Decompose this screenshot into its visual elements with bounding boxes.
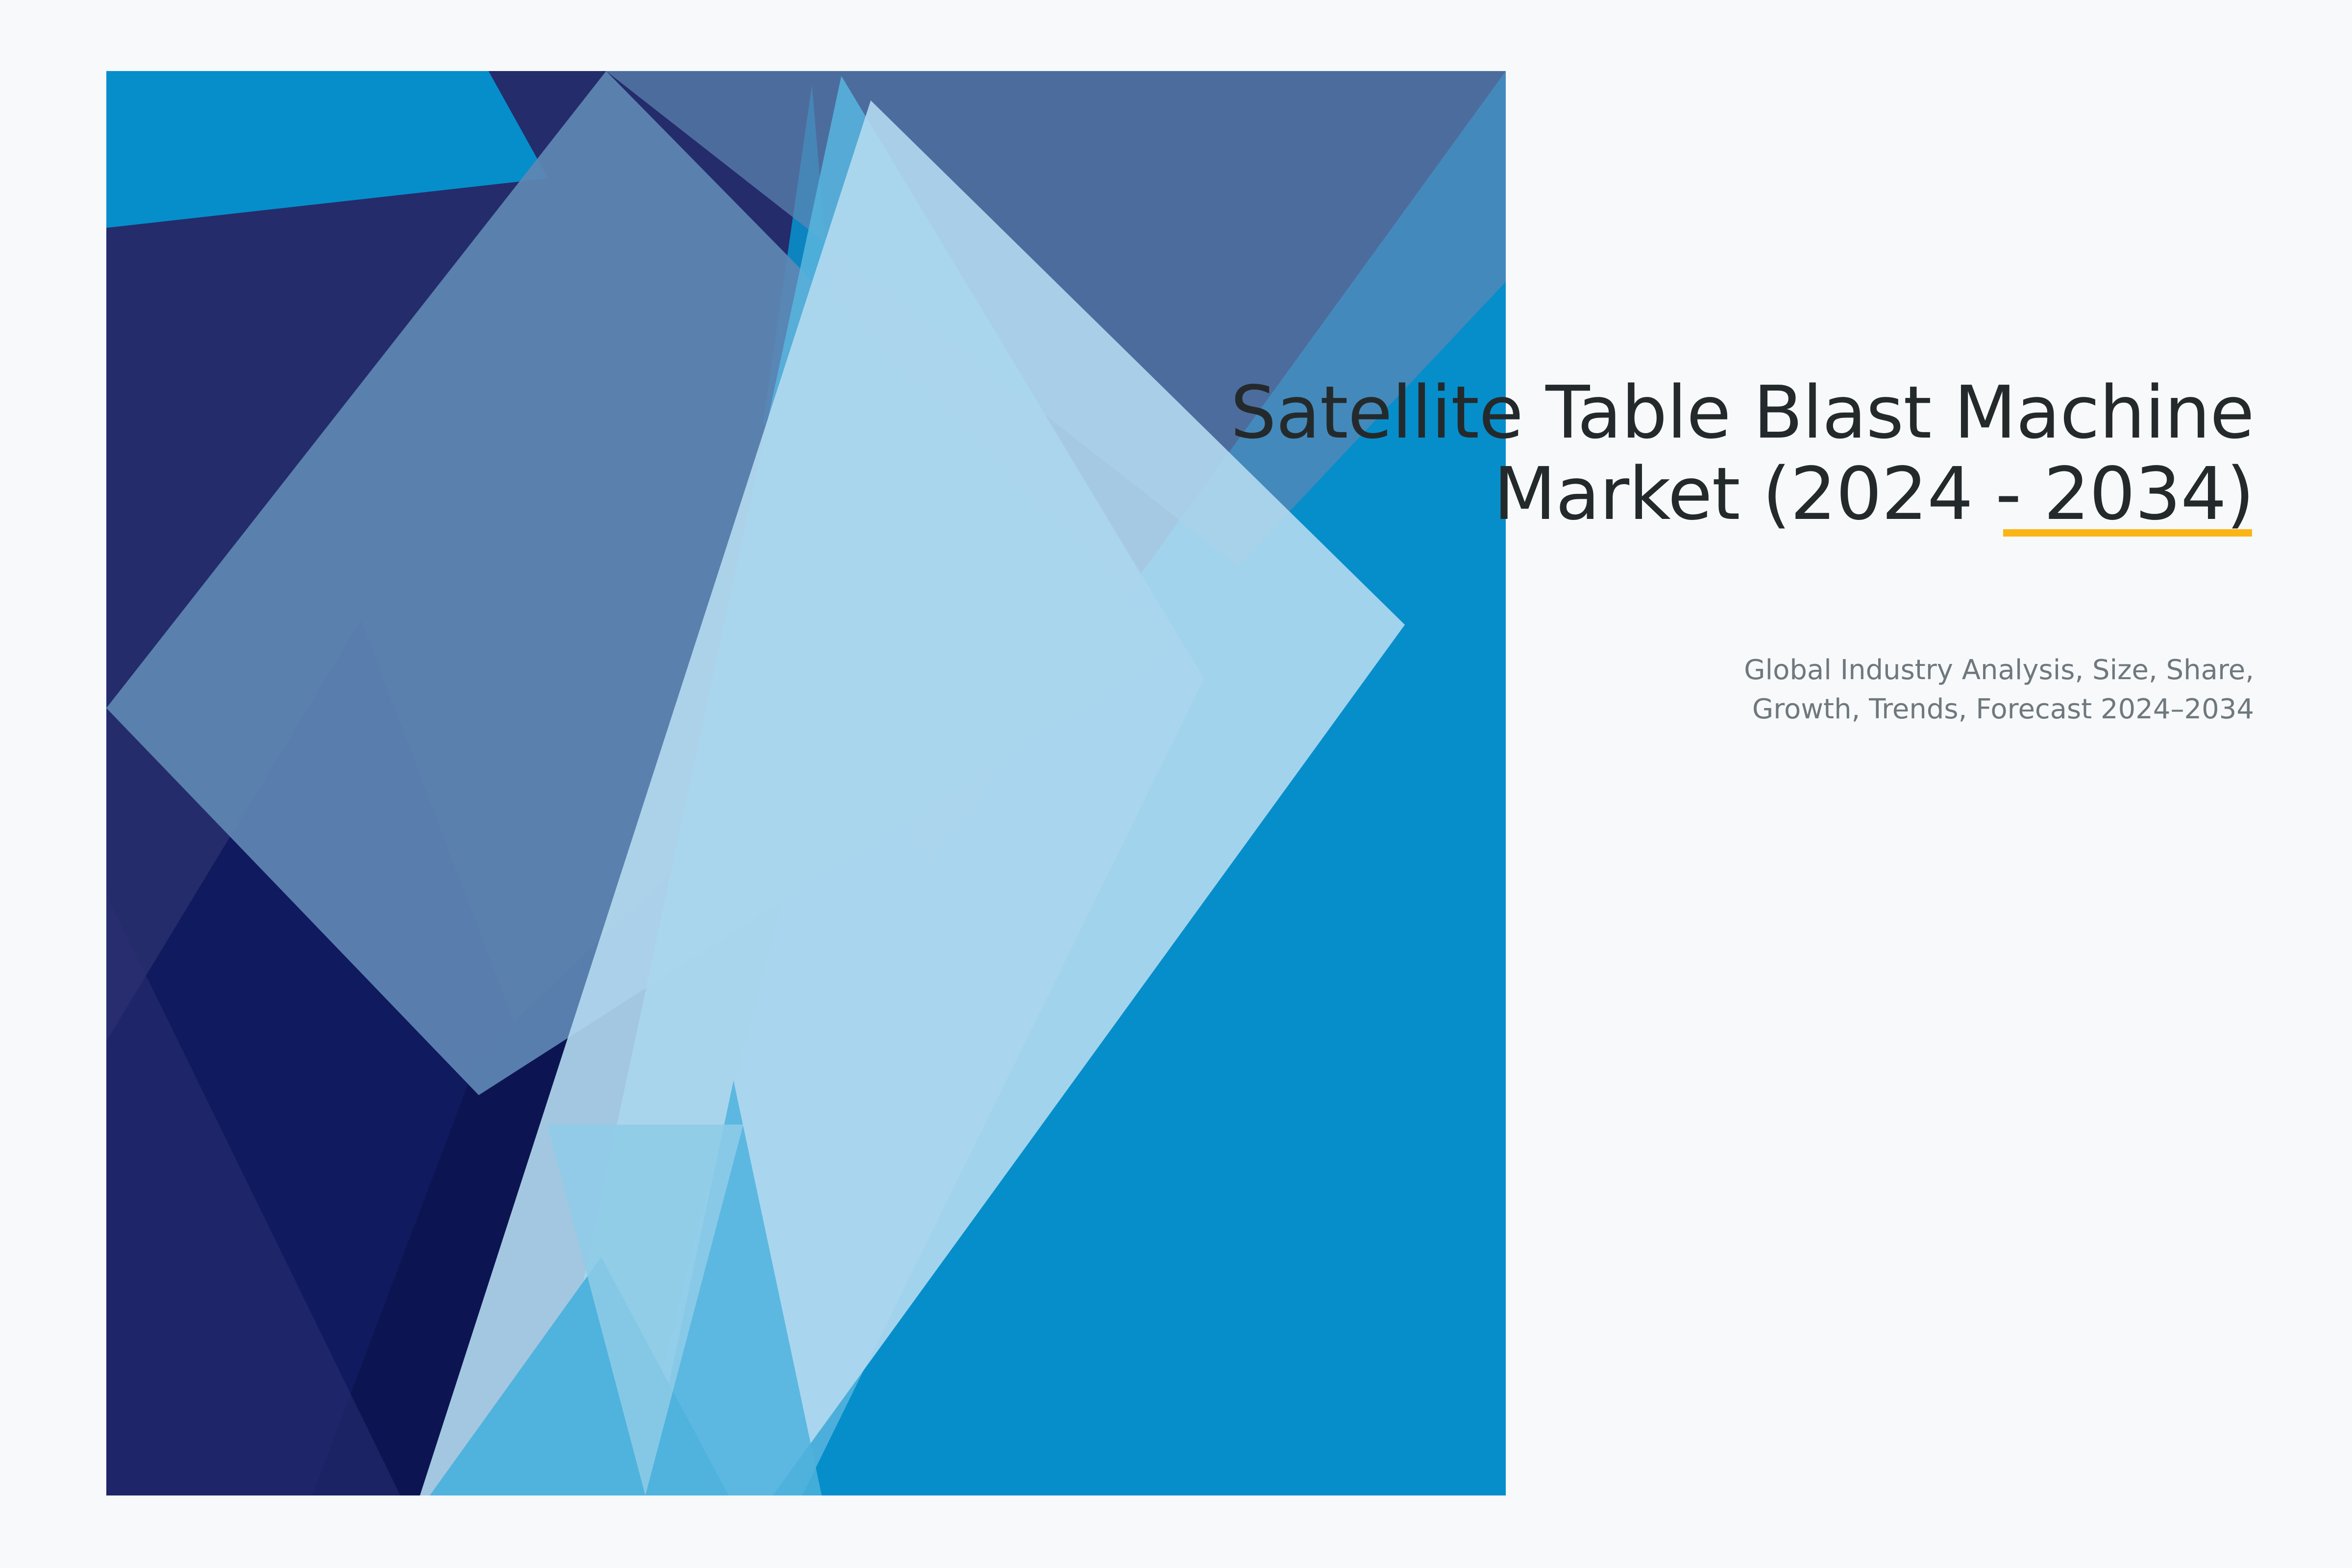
report-cover-page: Satellite Table Blast Machine Market (20… bbox=[0, 0, 2352, 1568]
abstract-geometry-svg bbox=[106, 71, 1506, 1495]
cover-artwork bbox=[106, 71, 1506, 1495]
page-subtitle: Global Industry Analysis, Size, Share, G… bbox=[1519, 651, 2254, 729]
title-block: Satellite Table Blast Machine Market (20… bbox=[1117, 372, 2254, 535]
page-title: Satellite Table Blast Machine Market (20… bbox=[1117, 372, 2254, 535]
